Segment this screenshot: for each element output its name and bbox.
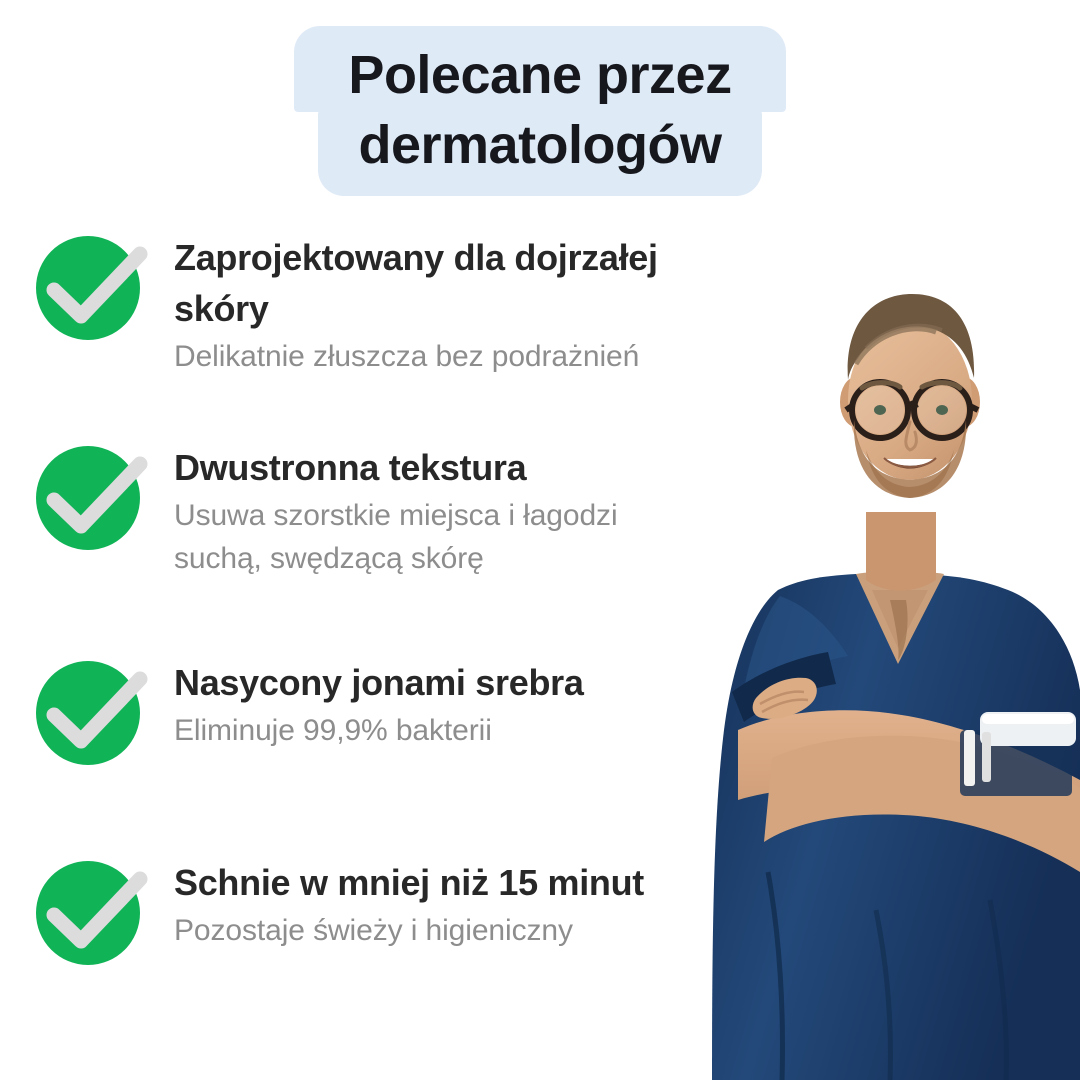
green-check-icon [36, 857, 148, 969]
feature-text: Dwustronna tekstura Usuwa szorstkie miej… [148, 438, 760, 580]
feature-title: Schnie w mniej niż 15 minut [174, 857, 754, 908]
feature-list: Zaprojektowany dla dojrzałej skóry Delik… [0, 228, 760, 1013]
feature-subtitle: Pozostaje świeży i higieniczny [174, 910, 674, 953]
feature-subtitle: Eliminuje 99,9% bakterii [174, 710, 674, 753]
feature-title: Dwustronna tekstura [174, 442, 754, 493]
feature-text: Schnie w mniej niż 15 minut Pozostaje św… [148, 853, 760, 953]
list-item: Zaprojektowany dla dojrzałej skóry Delik… [0, 228, 760, 438]
feature-title: Nasycony jonami srebra [174, 657, 754, 708]
feature-subtitle: Delikatnie złuszcza bez podrażnień [174, 336, 674, 379]
list-item: Nasycony jonami srebra Eliminuje 99,9% b… [0, 653, 760, 853]
green-check-icon [36, 657, 148, 769]
green-check-icon [36, 442, 148, 554]
promo-infographic: Polecane przez dermatologów Zaprojektowa… [0, 0, 1080, 1080]
page-title: Polecane przez dermatologów [0, 26, 1080, 186]
list-item: Dwustronna tekstura Usuwa szorstkie miej… [0, 438, 760, 653]
feature-text: Nasycony jonami srebra Eliminuje 99,9% b… [148, 653, 760, 753]
list-item: Schnie w mniej niż 15 minut Pozostaje św… [0, 853, 760, 1013]
feature-title: Zaprojektowany dla dojrzałej skóry [174, 232, 754, 334]
feature-text: Zaprojektowany dla dojrzałej skóry Delik… [148, 228, 760, 379]
green-check-icon [36, 232, 148, 344]
page-title-line-2: dermatologów [318, 110, 761, 196]
page-title-line-1: Polecane przez [294, 26, 785, 112]
feature-subtitle: Usuwa szorstkie miejsca i łagodzi suchą,… [174, 495, 674, 580]
